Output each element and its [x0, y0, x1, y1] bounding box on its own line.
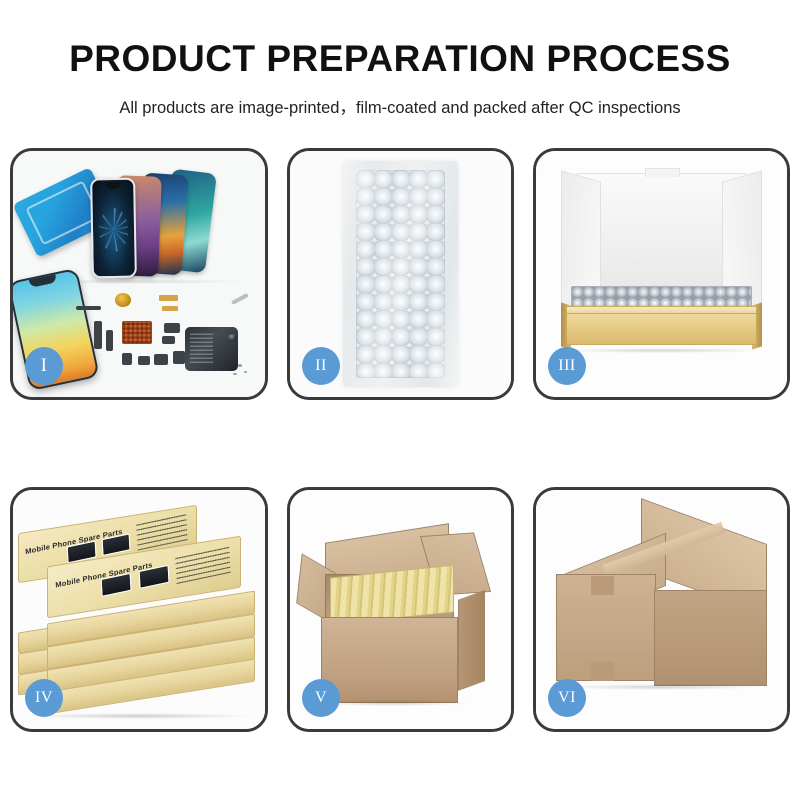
product-preparation-infographic: PRODUCT PREPARATION PROCESS All products…	[0, 0, 800, 800]
part-clip-icon	[154, 354, 168, 365]
step-numeral: IV	[35, 689, 53, 707]
step-numeral: II	[315, 357, 327, 375]
step-numeral: III	[558, 357, 575, 375]
p6-shadow	[561, 684, 757, 690]
part-button-strip-icon	[94, 321, 103, 349]
part-chip-array-icon	[122, 321, 152, 344]
carton-side-panel-icon	[458, 590, 485, 690]
step-badge-6: VI	[548, 679, 586, 717]
part-screw-icon	[238, 364, 242, 366]
part-camera-lens-icon	[228, 334, 237, 342]
part-clip-icon	[138, 356, 150, 366]
box-front-wall-icon	[566, 313, 757, 345]
step-badge-4: IV	[25, 679, 63, 717]
p4-shadow	[28, 713, 250, 719]
part-sim-tray-icon	[122, 353, 133, 365]
part-module-icon	[162, 336, 174, 344]
step-panel-4-stacked-retail-boxes[interactable]: Mobile Phone Spare Parts Mobile Phone Sp…	[10, 487, 268, 732]
step-badge-5: V	[302, 679, 340, 717]
part-speaker-coil-icon	[115, 293, 131, 307]
process-step-grid: I II	[0, 0, 800, 800]
phone-fan-group	[91, 171, 247, 279]
phone-black-screen-icon	[90, 178, 137, 278]
carton-handle-tab-icon	[591, 576, 614, 595]
part-screw-icon	[244, 371, 248, 373]
phone-notch-icon	[106, 182, 121, 189]
phone-notch-icon	[29, 274, 57, 287]
step-panel-1-phone-parts[interactable]: I	[10, 148, 268, 400]
step-panel-5-open-shipping-carton[interactable]: V	[287, 487, 514, 732]
step-badge-2: II	[302, 347, 340, 385]
carton-front-panel-icon	[321, 617, 458, 703]
carton-front-right-icon	[654, 590, 767, 686]
part-connector-icon	[76, 306, 101, 310]
part-module-icon	[164, 323, 180, 333]
part-screw-icon	[233, 373, 237, 375]
step-badge-1: I	[25, 347, 63, 385]
part-flex-cable-icon	[162, 306, 178, 311]
step-numeral: V	[315, 689, 327, 707]
step-panel-6-sealed-shipping-carton[interactable]: VI	[533, 487, 790, 732]
carton-handle-tab-icon	[591, 662, 614, 681]
part-bracket-icon	[173, 351, 185, 364]
part-button-strip-icon	[106, 330, 113, 352]
p3-shadow	[561, 348, 762, 353]
step-numeral: I	[41, 355, 48, 377]
screen-burst-graphic	[99, 208, 129, 252]
step-panel-3-open-inner-box[interactable]: III	[533, 148, 790, 400]
step-panel-2-bubble-wrap[interactable]: II	[287, 148, 514, 400]
bubble-wrap-pouch-icon	[343, 161, 458, 387]
part-tool-icon	[231, 293, 249, 305]
step-numeral: VI	[558, 689, 576, 707]
bubble-grid	[356, 170, 446, 378]
part-flex-cable-icon	[159, 295, 178, 301]
spare-parts-cluster	[76, 286, 252, 394]
spec-text-lines	[175, 544, 230, 584]
step-badge-3: III	[548, 347, 586, 385]
